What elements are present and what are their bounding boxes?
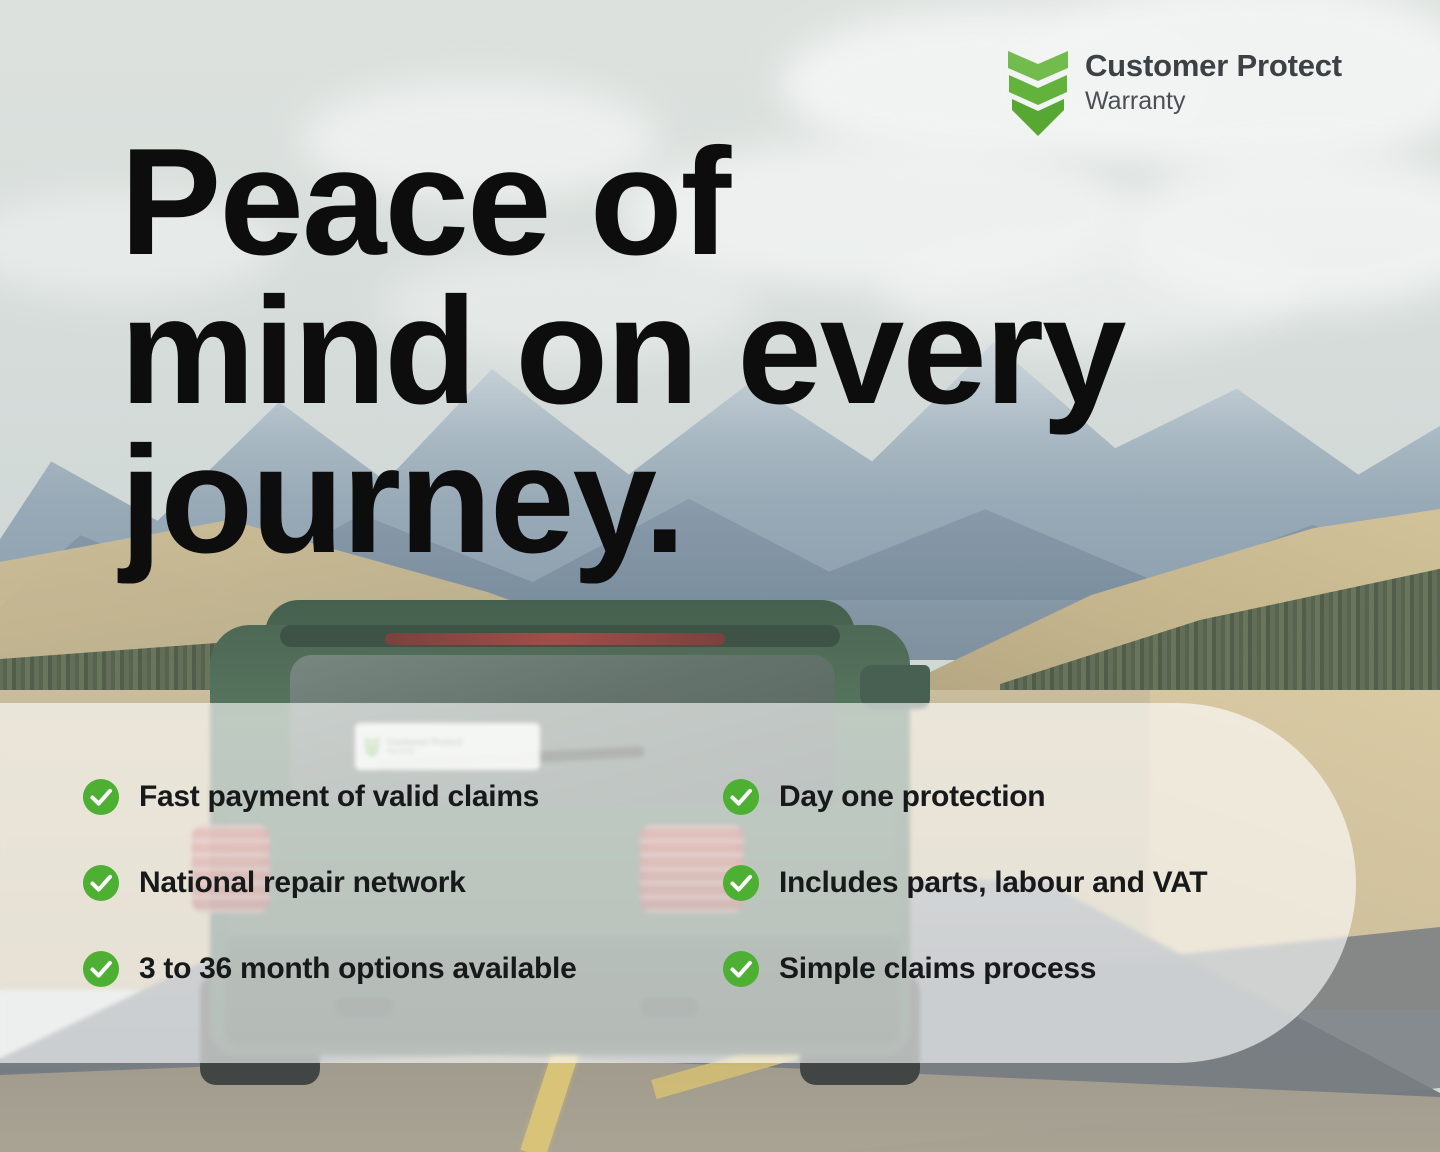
feature-label: Simple claims process — [779, 952, 1096, 986]
feature-label: National repair network — [139, 866, 466, 900]
feature-label: 3 to 36 month options available — [139, 952, 576, 986]
check-circle-icon — [82, 864, 120, 902]
feature-label: Fast payment of valid claims — [139, 780, 539, 814]
list-item: 3 to 36 month options available — [82, 926, 722, 1012]
brand-logo-text: Customer Protect Warranty — [1085, 48, 1342, 116]
check-circle-icon — [722, 778, 760, 816]
list-item: Day one protection — [722, 754, 1356, 840]
page-title: Peace of mind on every journey. — [120, 128, 1320, 575]
check-circle-icon — [722, 950, 760, 988]
feature-label: Day one protection — [779, 780, 1045, 814]
list-item: National repair network — [82, 840, 722, 926]
check-circle-icon — [82, 950, 120, 988]
brand-logo[interactable]: Customer Protect Warranty — [1005, 48, 1342, 140]
marketing-poster: Customer Protect Warranty Customer Prote… — [0, 0, 1440, 1152]
list-item: Includes parts, labour and VAT — [722, 840, 1356, 926]
headline-line-3: journey. — [120, 426, 1320, 575]
headline-line-2: mind on every — [120, 277, 1320, 426]
list-item: Fast payment of valid claims — [82, 754, 722, 840]
brand-title: Customer Protect — [1085, 50, 1342, 83]
check-circle-icon — [82, 778, 120, 816]
check-circle-icon — [722, 864, 760, 902]
brand-subtitle: Warranty — [1085, 86, 1342, 116]
brake-light-icon — [385, 633, 725, 645]
feature-label: Includes parts, labour and VAT — [779, 866, 1207, 900]
feature-list: Fast payment of valid claims Day one pro… — [0, 703, 1356, 1063]
headline-line-1: Peace of — [120, 128, 1320, 277]
list-item: Simple claims process — [722, 926, 1356, 1012]
shield-chevron-icon — [1005, 48, 1071, 140]
